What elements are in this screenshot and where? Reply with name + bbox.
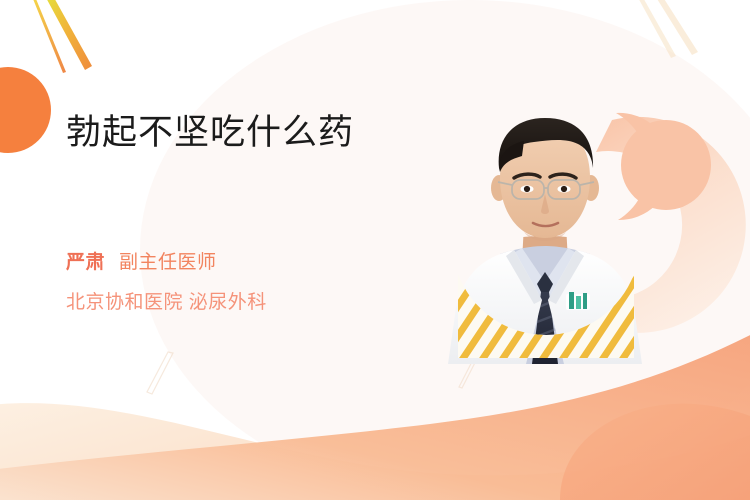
doctor-name-and-rank: 严肃副主任医师 [66,248,267,278]
doctor-intro-card: 勃起不坚吃什么药 严肃副主任医师 北京协和医院 泌尿外科 [0,0,750,500]
doctor-rank-title: 副主任医师 [119,252,217,273]
coat-badge-icon [566,292,590,310]
doctor-credit-block: 严肃副主任医师 北京协和医院 泌尿外科 [66,248,267,318]
headline-block: 勃起不坚吃什么药 [66,112,446,153]
doctor-portrait-illustration [438,96,652,364]
doctor-name: 严肃 [66,252,105,273]
doctor-portrait [438,96,652,364]
page-title: 勃起不坚吃什么药 [66,112,446,153]
doctor-head [491,118,599,241]
doctor-affiliation: 北京协和医院 泌尿外科 [66,288,267,318]
